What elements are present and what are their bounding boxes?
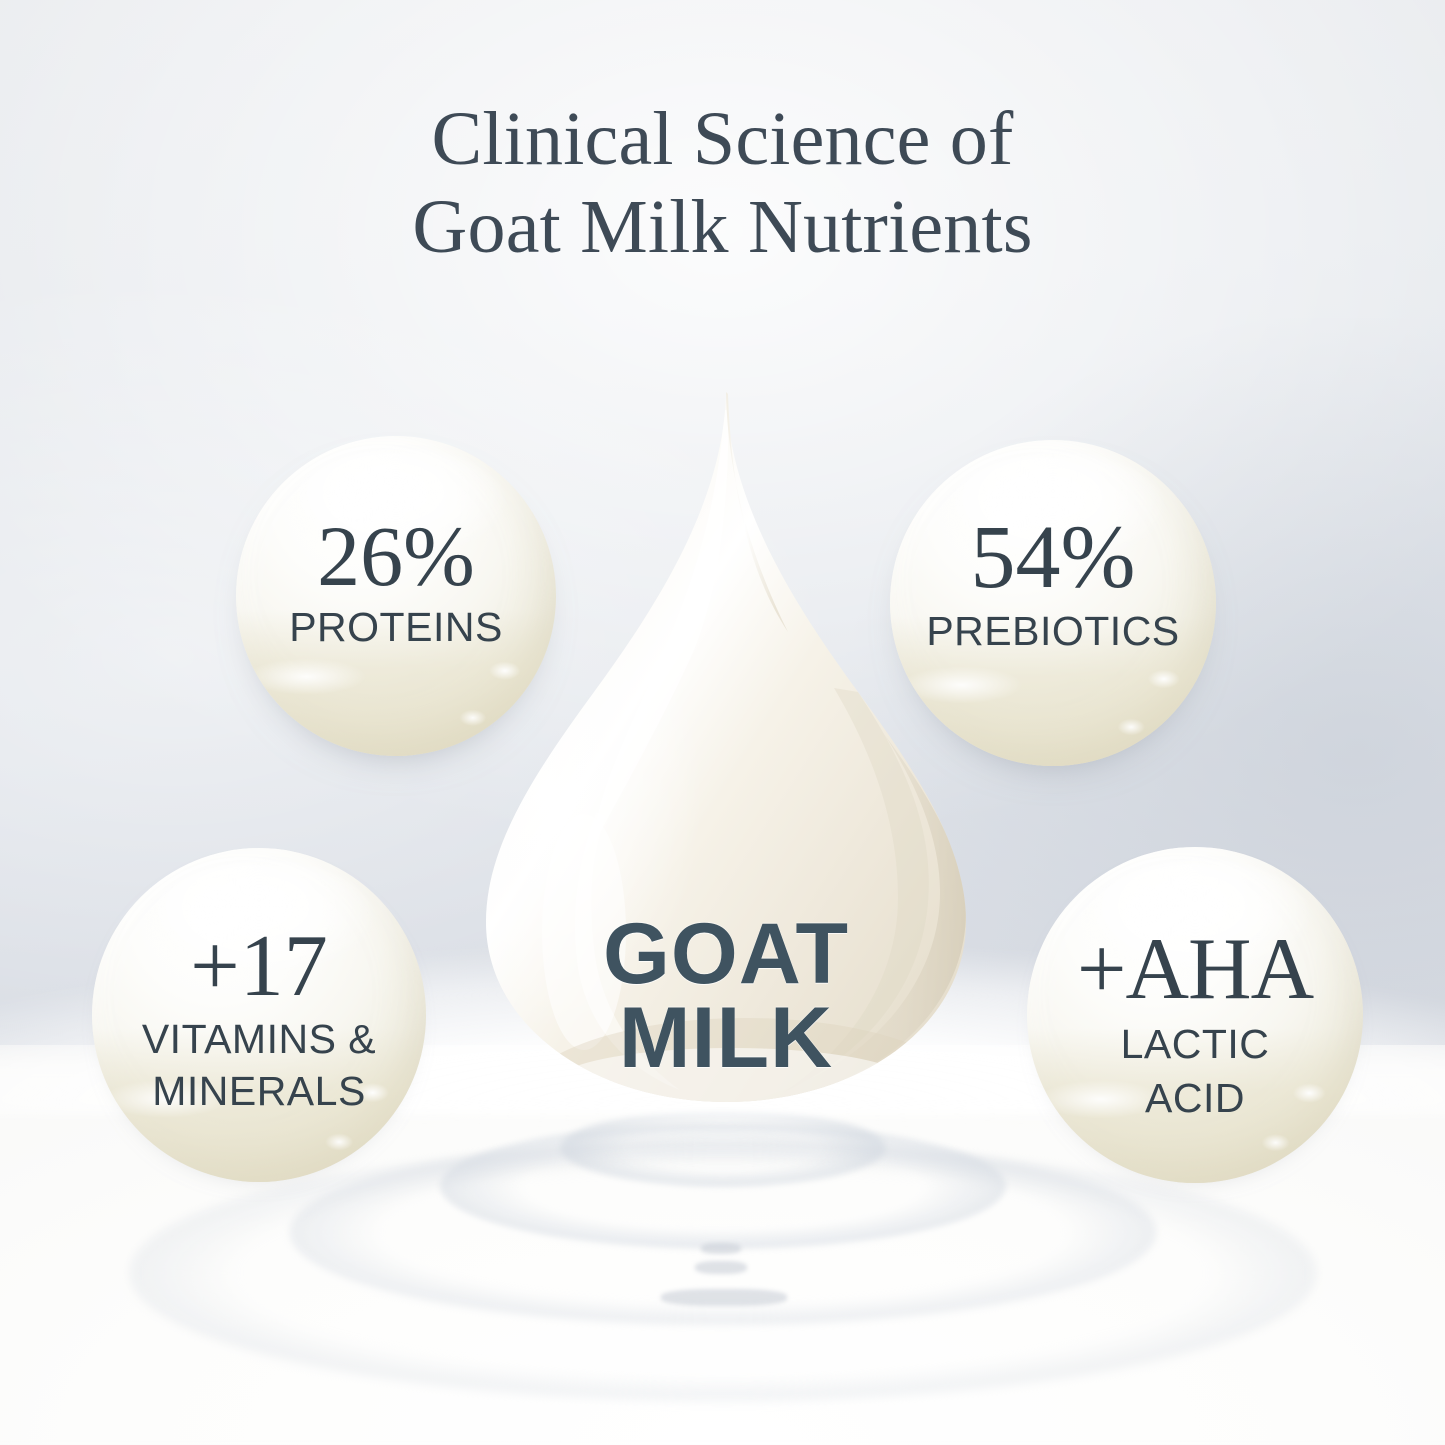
milk-bead bbox=[701, 1243, 741, 1254]
stat-sphere-aha: +AHA LACTIC ACID bbox=[1027, 847, 1363, 1183]
milk-bead bbox=[661, 1289, 787, 1306]
milk-ripple-inner bbox=[440, 1123, 1006, 1249]
stat-sphere-prebiotics-content: 54% PREBIOTICS bbox=[890, 440, 1216, 654]
stat-caption-aha-line-2: ACID bbox=[1027, 1077, 1363, 1120]
droplet-label: GOAT MILK bbox=[603, 912, 849, 1081]
stat-value-aha: +AHA bbox=[1027, 927, 1363, 1013]
stat-caption-vitamins-line-2: MINERALS bbox=[92, 1070, 426, 1113]
goat-milk-infographic: GOAT MILK Clinical Science of Goat Milk … bbox=[0, 0, 1445, 1445]
stat-caption-proteins: PROTEINS bbox=[236, 606, 556, 649]
milk-bead bbox=[695, 1261, 747, 1274]
stat-value-prebiotics: 54% bbox=[890, 514, 1216, 602]
stat-value-vitamins: +17 bbox=[92, 924, 426, 1010]
stat-sphere-prebiotics: 54% PREBIOTICS bbox=[890, 440, 1216, 766]
stat-value-proteins: 26% bbox=[236, 514, 556, 598]
stat-caption-vitamins-line-1: VITAMINS & bbox=[92, 1018, 426, 1061]
stat-caption-aha-line-1: LACTIC bbox=[1027, 1023, 1363, 1066]
droplet-label-line-1: GOAT bbox=[603, 906, 849, 1002]
stat-sphere-vitamins: +17 VITAMINS & MINERALS bbox=[92, 848, 426, 1182]
milk-ripple-mid bbox=[290, 1139, 1156, 1325]
stat-sphere-proteins-content: 26% PROTEINS bbox=[236, 436, 556, 650]
stat-sphere-proteins: 26% PROTEINS bbox=[236, 436, 556, 756]
stat-sphere-vitamins-content: +17 VITAMINS & MINERALS bbox=[92, 848, 426, 1113]
page-title-line-2: Goat Milk Nutrients bbox=[0, 183, 1445, 271]
stat-caption-prebiotics: PREBIOTICS bbox=[890, 610, 1216, 653]
stat-sphere-aha-content: +AHA LACTIC ACID bbox=[1027, 847, 1363, 1120]
page-title: Clinical Science of Goat Milk Nutrients bbox=[0, 95, 1445, 271]
droplet-label-line-2: MILK bbox=[603, 996, 849, 1080]
milk-droplet-beads bbox=[623, 1239, 823, 1349]
page-title-line-1: Clinical Science of bbox=[0, 95, 1445, 183]
milk-ripple-outer bbox=[130, 1145, 1316, 1401]
milk-ripple-core bbox=[560, 1109, 886, 1187]
